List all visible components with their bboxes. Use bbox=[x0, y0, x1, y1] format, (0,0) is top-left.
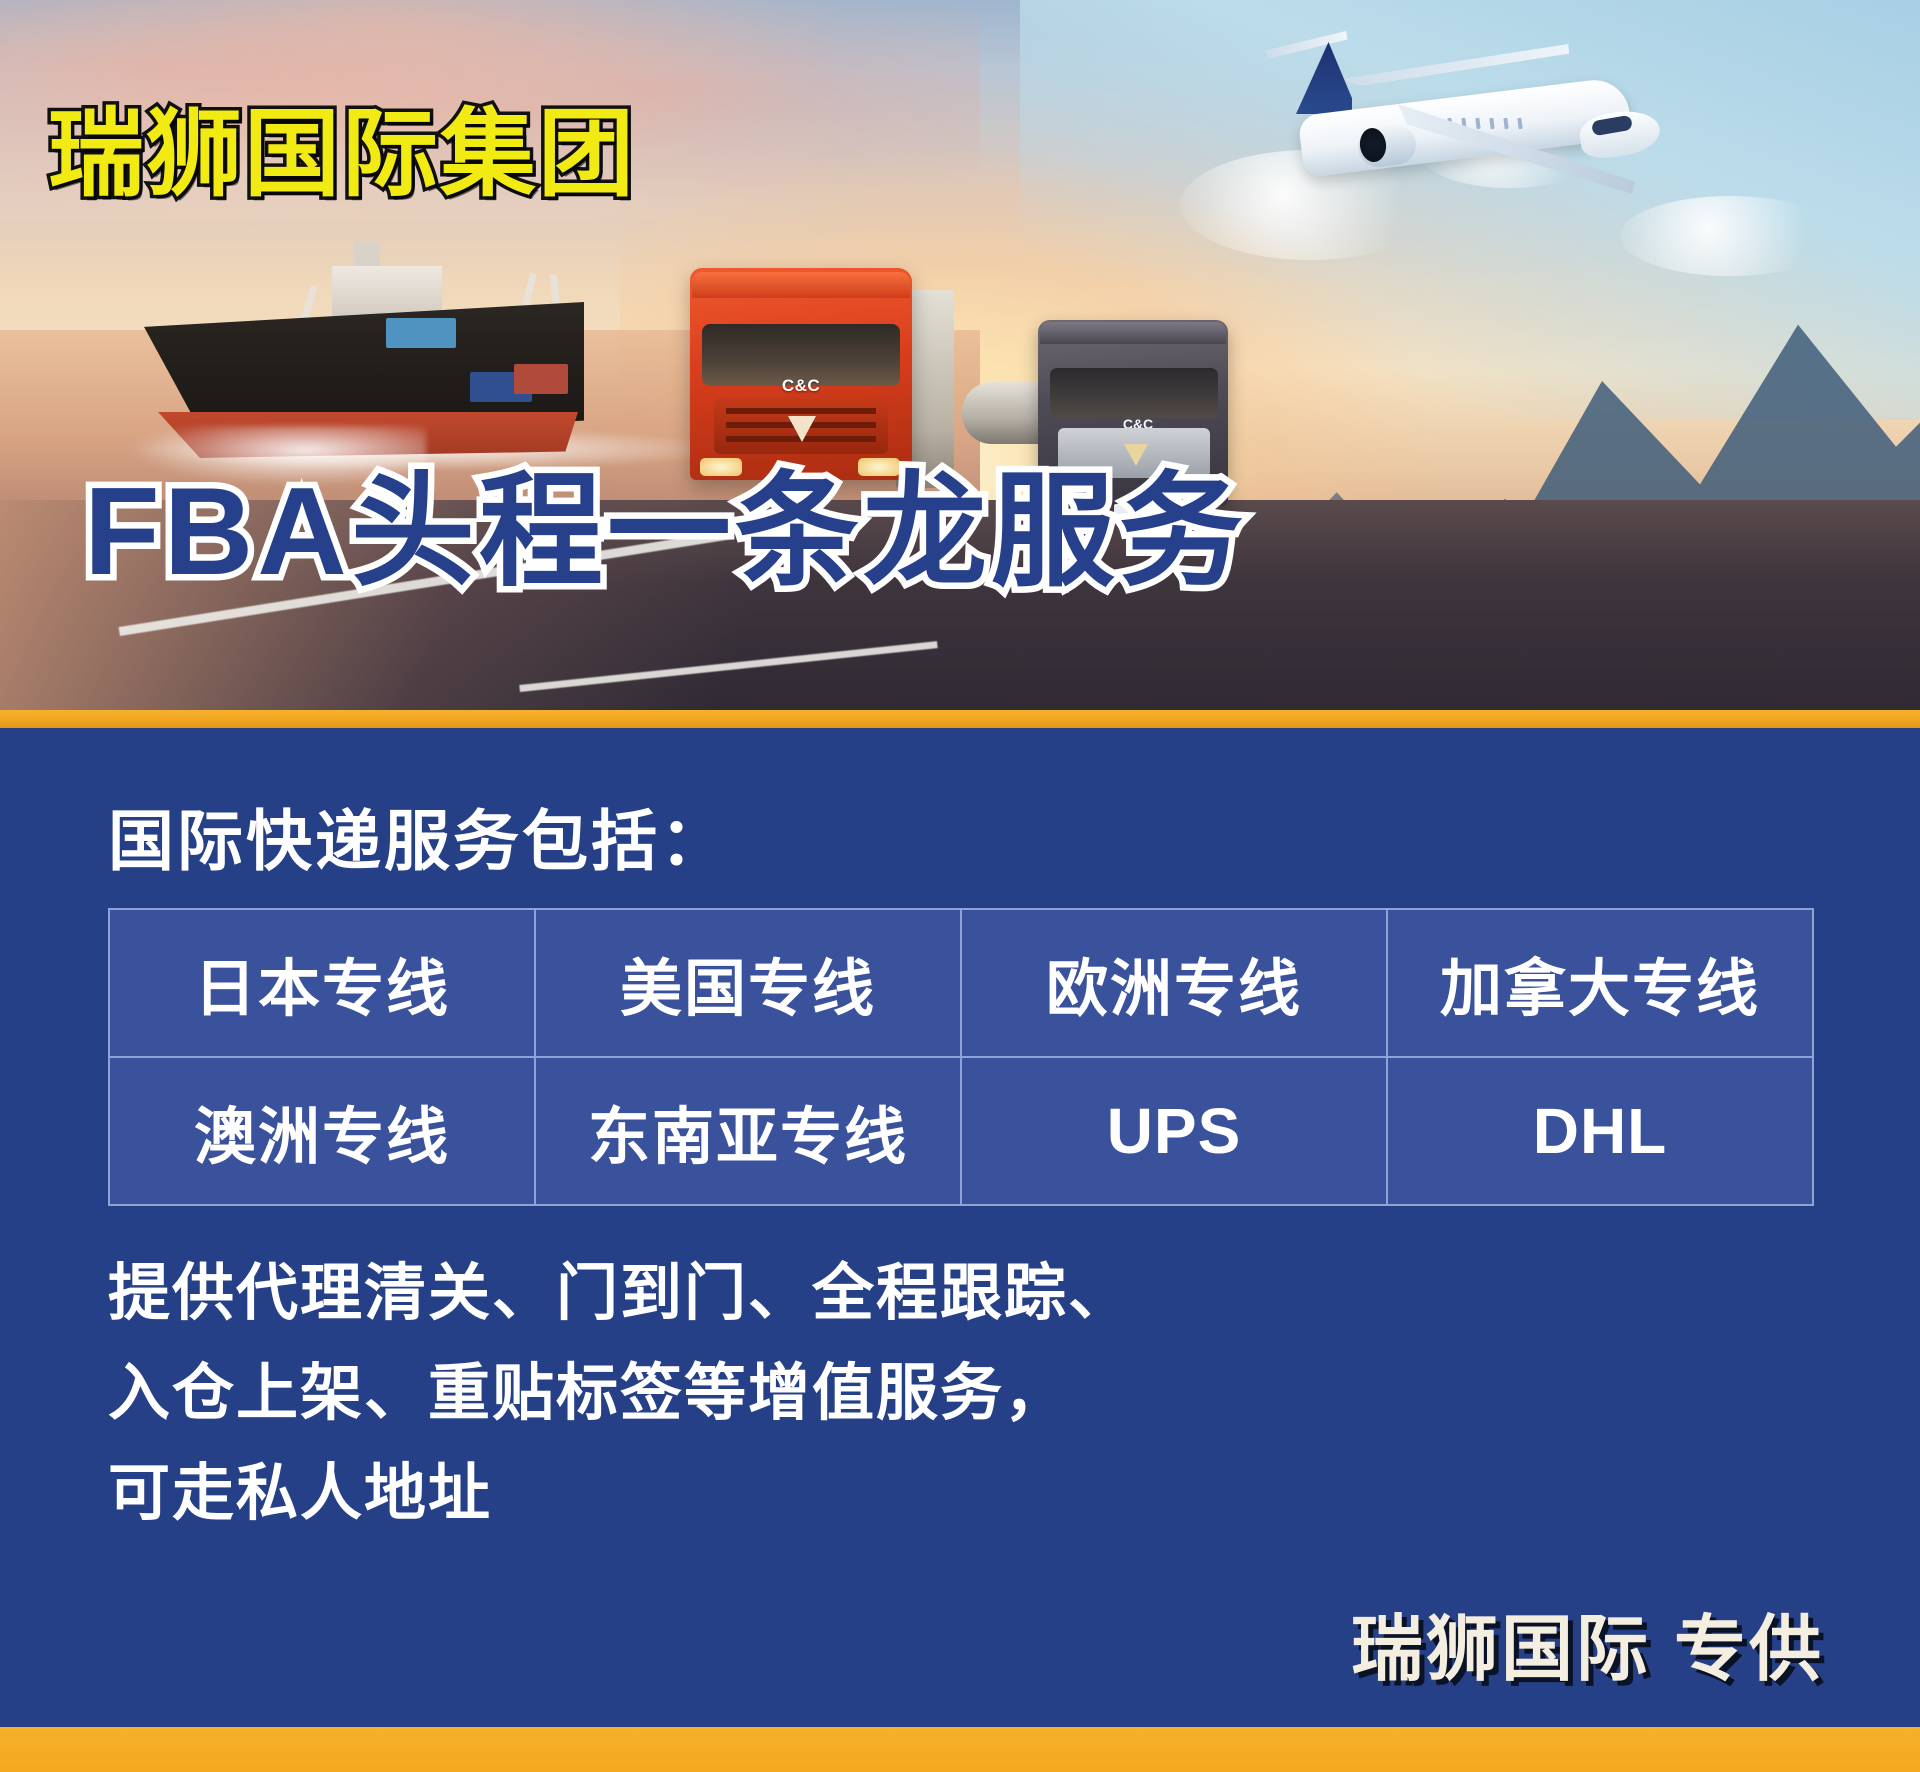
service-cell-ups[interactable]: UPS bbox=[961, 1057, 1387, 1205]
hero-headline: FBA头程一条龙服务 bbox=[84, 430, 1247, 610]
table-row: 日本专线 美国专线 欧洲专线 加拿大专线 bbox=[109, 909, 1813, 1057]
poster-root: C&C C&C bbox=[0, 0, 1920, 1772]
plane-tail-fin bbox=[1296, 42, 1352, 114]
service-cell-usa[interactable]: 美国专线 bbox=[535, 909, 961, 1057]
service-line-3: 可走私人地址 bbox=[108, 1444, 1132, 1544]
service-cell-southeast-asia[interactable]: 东南亚专线 bbox=[535, 1057, 961, 1205]
services-panel: 国际快递服务包括： 日本专线 美国专线 欧洲专线 加拿大专线 澳洲专线 东南亚专… bbox=[0, 728, 1920, 1727]
plane-horizontal-stabilizer bbox=[1263, 31, 1348, 59]
airplane-icon bbox=[1240, 30, 1680, 240]
service-cell-japan[interactable]: 日本专线 bbox=[109, 909, 535, 1057]
shipping-container bbox=[514, 364, 568, 394]
service-cell-dhl[interactable]: DHL bbox=[1387, 1057, 1813, 1205]
truck-sun-visor bbox=[1040, 322, 1226, 344]
truck-sun-visor bbox=[692, 272, 910, 298]
brand-logo-text: 瑞狮国际集团 bbox=[48, 76, 636, 215]
gold-divider-bar bbox=[0, 710, 1920, 728]
shipping-container bbox=[386, 318, 456, 348]
footer-brand-text: 瑞狮国际 专供 bbox=[1351, 1590, 1824, 1695]
service-line-1: 提供代理清关、门到门、全程跟踪、 bbox=[108, 1244, 1132, 1344]
service-cell-canada[interactable]: 加拿大专线 bbox=[1387, 909, 1813, 1057]
services-table: 日本专线 美国专线 欧洲专线 加拿大专线 澳洲专线 东南亚专线 UPS DHL bbox=[108, 908, 1814, 1206]
truck-windshield bbox=[1050, 368, 1218, 418]
service-line-2: 入仓上架、重贴标签等增值服务， bbox=[108, 1344, 1132, 1444]
truck-brand-label: C&C bbox=[768, 376, 834, 396]
hero-banner-image: C&C C&C bbox=[0, 0, 1920, 710]
plane-far-wing bbox=[1340, 44, 1571, 88]
table-row: 澳洲专线 东南亚专线 UPS DHL bbox=[109, 1057, 1813, 1205]
gold-footer-bar bbox=[0, 1727, 1920, 1772]
service-cell-europe[interactable]: 欧洲专线 bbox=[961, 909, 1387, 1057]
service-cell-australia[interactable]: 澳洲专线 bbox=[109, 1057, 535, 1205]
value-added-services-text: 提供代理清关、门到门、全程跟踪、 入仓上架、重贴标签等增值服务， 可走私人地址 bbox=[108, 1244, 1132, 1544]
panel-heading: 国际快递服务包括： bbox=[108, 788, 729, 884]
